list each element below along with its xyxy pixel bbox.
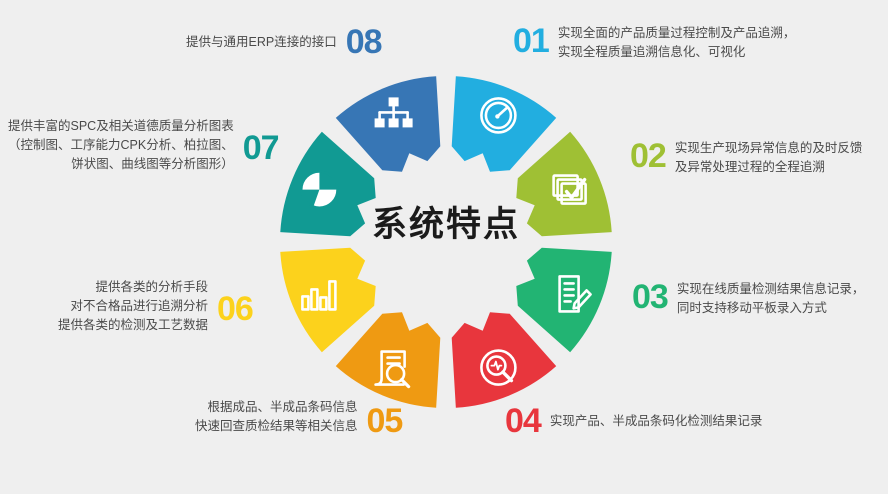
callout-05: 根据成品、半成品条码信息 快速回查质检结果等相关信息 05 [195, 398, 402, 436]
gauge-icon [481, 98, 515, 132]
callout-08: 提供与通用ERP连接的接口 08 [186, 25, 382, 59]
wheel-segment-01[interactable] [452, 76, 557, 171]
wheel-segment-05[interactable] [336, 312, 441, 407]
callout-text-03: 实现在线质量检测结果信息记录， 同时支持移动平板录入方式 [677, 280, 865, 318]
pie-chart-icon [301, 172, 337, 208]
callout-number-04: 04 [505, 404, 541, 438]
callout-text-02: 实现生产现场异常信息的及时反馈 及异常处理过程的全程追溯 [675, 139, 863, 177]
infographic-canvas: 系统特点 01 实现全面的产品质量过程控制及产品追溯， 实现全程质量追溯信息化、… [0, 0, 888, 494]
callout-number-01: 01 [513, 24, 549, 58]
callout-text-07: 提供丰富的SPC及相关道德质量分析图表 （控制图、工序能力CPK分析、柏拉图、 … [8, 117, 234, 174]
callout-06: 提供各类的分析手段 对不合格品进行追溯分析 提供各类的检测及工艺数据 06 [58, 278, 253, 335]
callout-07: 提供丰富的SPC及相关道德质量分析图表 （控制图、工序能力CPK分析、柏拉图、 … [8, 117, 279, 174]
center-title: 系统特点 [336, 205, 556, 245]
callout-text-05: 根据成品、半成品条码信息 快速回查质检结果等相关信息 [195, 398, 358, 436]
callout-text-08: 提供与通用ERP连接的接口 [186, 25, 337, 59]
callout-number-07: 07 [243, 131, 279, 165]
callout-number-08: 08 [346, 25, 382, 59]
callout-text-06: 提供各类的分析手段 对不合格品进行追溯分析 提供各类的检测及工艺数据 [58, 278, 208, 335]
callout-03: 03 实现在线质量检测结果信息记录， 同时支持移动平板录入方式 [632, 280, 864, 318]
callout-number-05: 05 [367, 404, 403, 438]
callout-number-02: 02 [630, 139, 666, 173]
callout-01: 01 实现全面的产品质量过程控制及产品追溯， 实现全程质量追溯信息化、可视化 [513, 24, 795, 62]
callout-number-06: 06 [217, 292, 253, 326]
callout-02: 02 实现生产现场异常信息的及时反馈 及异常处理过程的全程追溯 [630, 139, 862, 177]
callout-number-03: 03 [632, 280, 668, 314]
callout-text-01: 实现全面的产品质量过程控制及产品追溯， 实现全程质量追溯信息化、可视化 [558, 24, 796, 62]
wheel-segment-08[interactable] [336, 76, 441, 171]
callout-04: 04 实现产品、半成品条码化检测结果记录 [505, 404, 762, 438]
callout-text-04: 实现产品、半成品条码化检测结果记录 [550, 404, 763, 438]
wheel-segment-03[interactable] [516, 248, 611, 353]
wheel-segment-06[interactable] [280, 248, 375, 353]
